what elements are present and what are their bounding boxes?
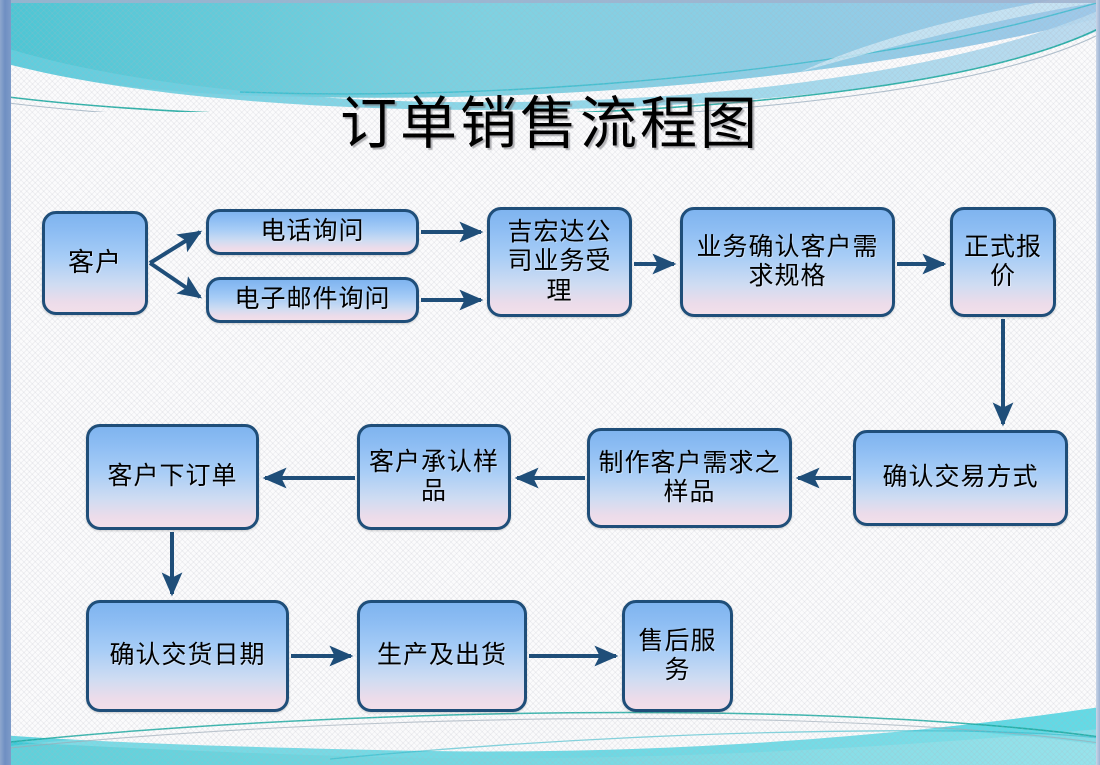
flow-node-confirm-date[interactable]: 确认交货日期: [86, 600, 289, 712]
flow-node-customer[interactable]: 客户: [42, 211, 148, 315]
flow-node-company-accept[interactable]: 吉宏达公司业务受理: [487, 207, 632, 317]
flow-node-label: 生产及出货: [371, 641, 513, 671]
flow-node-label: 业务确认客户需求规格: [683, 233, 892, 292]
flow-node-label: 正式报价: [953, 233, 1053, 292]
flow-node-produce-ship[interactable]: 生产及出货: [357, 600, 527, 712]
flow-node-label: 客户承认样品: [360, 448, 508, 507]
flow-node-label: 电话询问: [254, 217, 370, 247]
flow-node-label: 制作客户需求之样品: [590, 449, 789, 508]
flow-node-phone-inquiry[interactable]: 电话询问: [206, 209, 419, 255]
flow-node-label: 电子邮件询问: [228, 285, 396, 315]
flow-node-label: 售后服务: [625, 627, 730, 686]
flow-node-label: 确认交易方式: [876, 463, 1044, 493]
flow-node-formal-quote[interactable]: 正式报价: [950, 207, 1056, 317]
arrow-customer-to-phone-inquiry: [150, 232, 200, 263]
flow-node-place-order[interactable]: 客户下订单: [86, 424, 259, 530]
flow-node-label: 吉宏达公司业务受理: [490, 218, 629, 307]
page-title: 订单销售流程图: [0, 96, 1100, 153]
flow-node-confirm-specs[interactable]: 业务确认客户需求规格: [680, 207, 895, 317]
flow-node-after-sales[interactable]: 售后服务: [622, 600, 733, 712]
flow-node-label: 客户: [62, 248, 128, 279]
flow-node-label: 确认交货日期: [103, 641, 271, 671]
flow-node-approve-sample[interactable]: 客户承认样品: [357, 424, 511, 530]
slide-canvas: 订单销售流程图: [0, 0, 1100, 765]
flow-node-make-sample[interactable]: 制作客户需求之样品: [587, 428, 792, 528]
flow-node-label: 客户下订单: [101, 462, 243, 492]
flow-node-email-inquiry[interactable]: 电子邮件询问: [206, 277, 419, 323]
arrow-customer-to-email-inquiry: [150, 263, 200, 297]
flow-node-confirm-trade[interactable]: 确认交易方式: [853, 430, 1068, 526]
